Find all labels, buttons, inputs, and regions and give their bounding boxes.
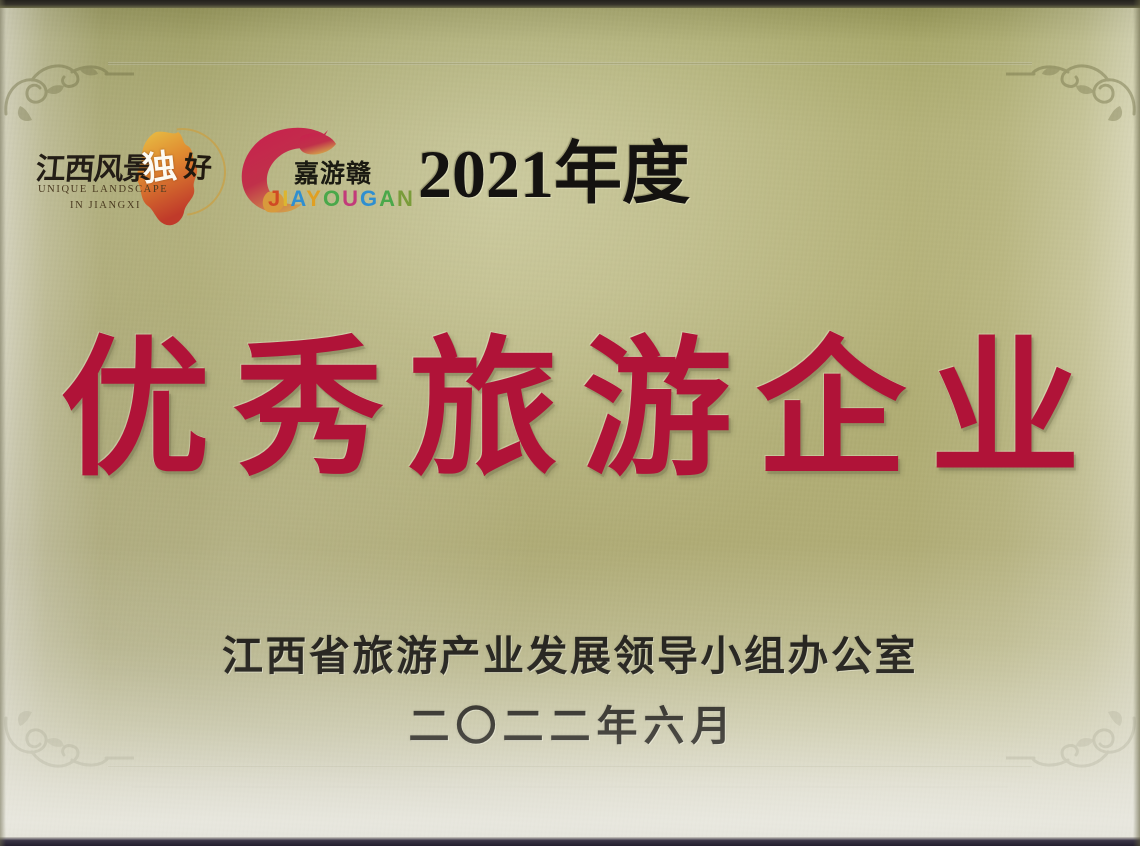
- pinyin-letter: G: [360, 186, 379, 211]
- issue-date: 二〇二二年六月: [0, 692, 1140, 752]
- pinyin-letter: N: [397, 186, 415, 211]
- photo-edge-left: [0, 0, 6, 846]
- award-plaque: 江西风景 独 好 UNIQUE LANDSCAPE IN JIANGXI 嘉游: [0, 0, 1140, 846]
- pinyin-letter: A: [379, 186, 397, 211]
- plaque-header: 江西风景 独 好 UNIQUE LANDSCAPE IN JIANGXI 嘉游: [34, 126, 690, 230]
- award-year-label: 2021年度: [418, 140, 690, 216]
- pinyin-letter: Y: [306, 186, 323, 211]
- photo-edge-top: [0, 0, 1140, 8]
- jiangxi-logo-accent-du: 独: [140, 138, 179, 190]
- jiayougan-logo: 嘉游赣 JIAYOUGAN: [232, 126, 404, 230]
- pinyin-letter: J: [268, 186, 282, 211]
- pinyin-letter: U: [342, 186, 360, 211]
- award-title: 优秀旅游企业: [0, 336, 1140, 486]
- jiayougan-logo-chinese: 嘉游赣: [294, 154, 372, 190]
- jiangxi-tourism-logo: 江西风景 独 好 UNIQUE LANDSCAPE IN JIANGXI: [34, 126, 226, 230]
- photo-edge-bottom: [0, 837, 1140, 846]
- border-rule-bottom: [108, 765, 1032, 768]
- border-rule-bottom-inner: [132, 786, 1008, 788]
- pinyin-letter: A: [290, 186, 306, 211]
- jiangxi-logo-accent-hao: 好: [183, 145, 214, 187]
- pinyin-letter: O: [323, 186, 342, 211]
- floral-scroll-ornament-icon: [2, 22, 134, 126]
- jiangxi-logo-chinese: 江西风景: [34, 144, 154, 188]
- floral-scroll-ornament-icon: [1006, 22, 1138, 126]
- border-rule-top: [108, 62, 1032, 65]
- photo-edge-right: [1133, 0, 1140, 846]
- issuing-authority: 江西省旅游产业发展领导小组办公室: [0, 622, 1140, 682]
- jiangxi-logo-english-line1: UNIQUE LANDSCAPE: [38, 184, 168, 195]
- jiangxi-logo-english-line2: IN JIANGXI: [70, 200, 141, 211]
- jiayougan-logo-pinyin: JIAYOUGAN: [268, 186, 415, 212]
